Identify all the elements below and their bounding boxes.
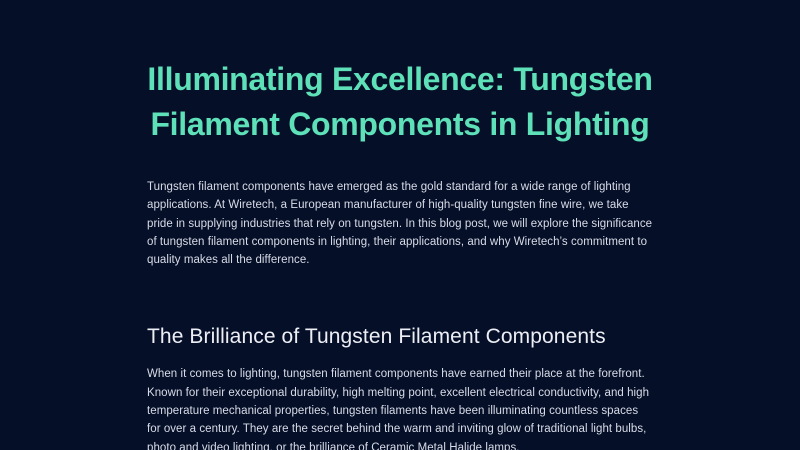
article-content-column: Illuminating Excellence: Tungsten Filame…: [147, 0, 653, 450]
page-title: Illuminating Excellence: Tungsten Filame…: [147, 57, 653, 147]
section-body-brilliance: When it comes to lighting, tungsten fila…: [147, 365, 653, 450]
article-page: Illuminating Excellence: Tungsten Filame…: [0, 0, 800, 450]
section-heading-brilliance: The Brilliance of Tungsten Filament Comp…: [147, 323, 653, 351]
article-intro-paragraph: Tungsten filament components have emerge…: [147, 178, 653, 269]
